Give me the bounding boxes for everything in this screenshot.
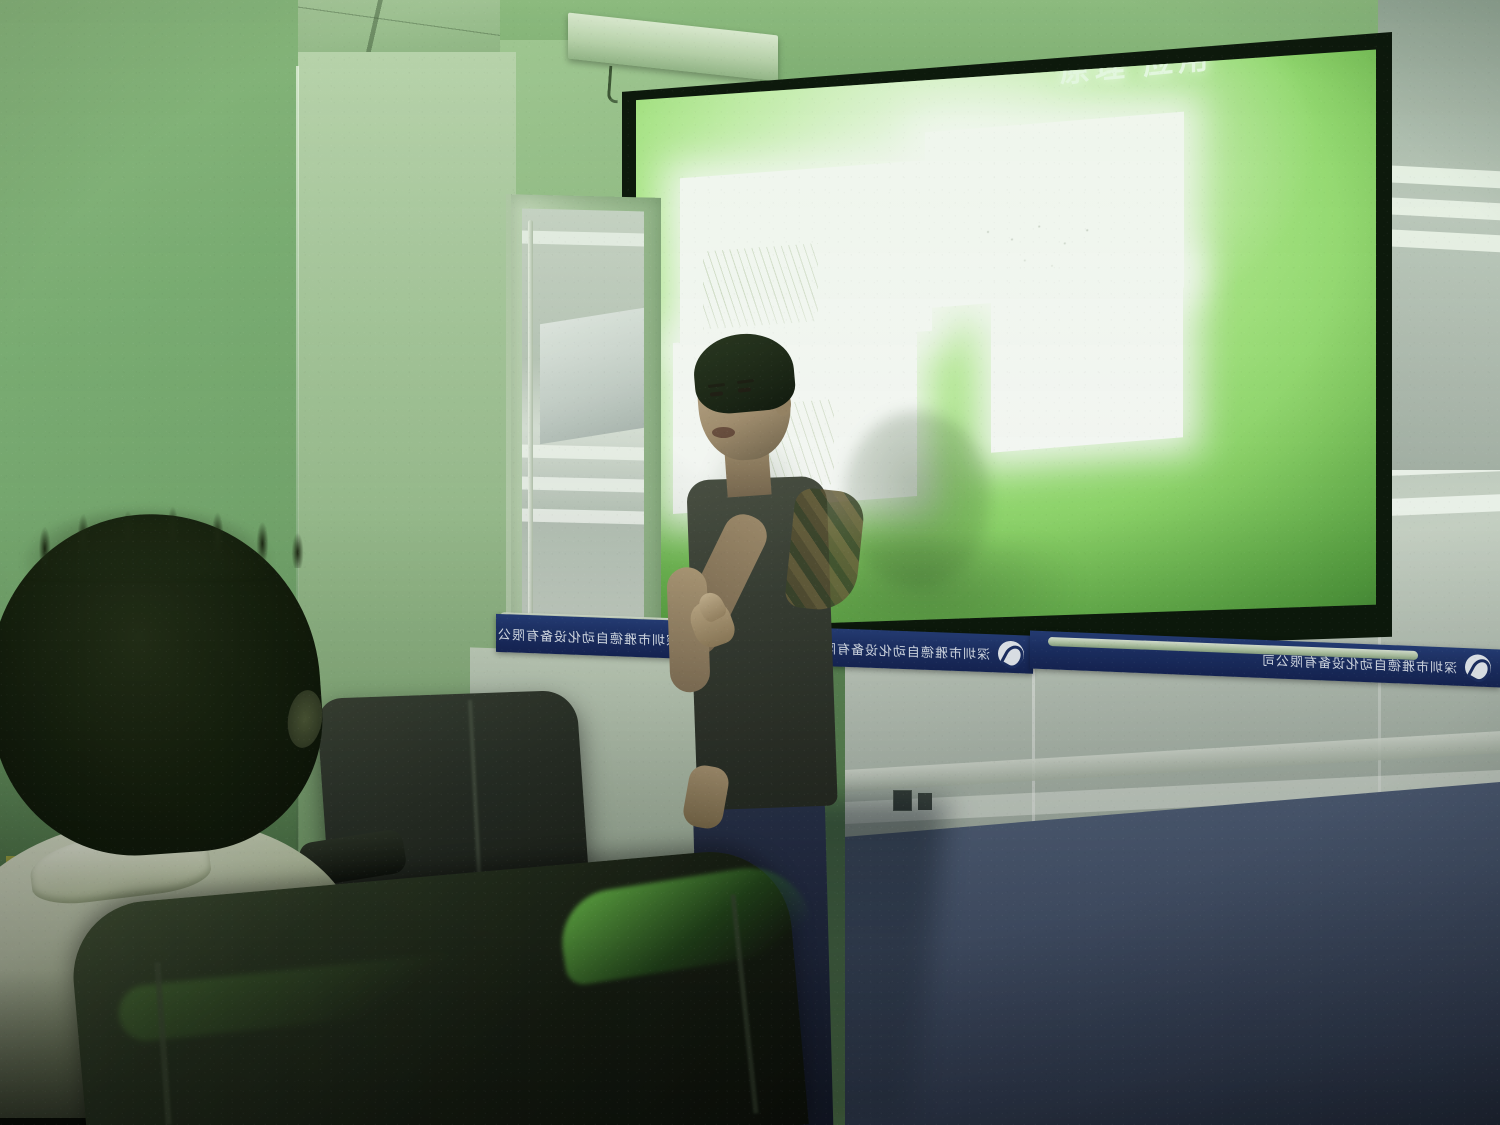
frost-band [522, 509, 644, 525]
frost-band [1378, 197, 1500, 220]
frost-band [1378, 229, 1500, 252]
presenter-forearm [666, 567, 710, 693]
presenter-hair [691, 330, 797, 416]
photo-scene: 原理 应用 深圳市雅德自动化设备有限公司 深圳市雅德自动化设备有限公司 深圳市雅… [0, 0, 1500, 1125]
audience-hair-spikes [0, 504, 320, 568]
frost-band [1378, 165, 1500, 188]
frost-band [522, 231, 644, 247]
presenter-camo-sleeve [784, 487, 866, 614]
company-swirl-logo [1465, 654, 1491, 681]
company-swirl-logo [998, 640, 1024, 667]
presenter-mouth [712, 427, 735, 438]
glass-far-panel [1378, 0, 1500, 470]
frost-band [522, 477, 644, 493]
door-open-gap [540, 308, 644, 444]
frost-band [522, 445, 644, 461]
door-handle[interactable] [528, 220, 533, 638]
